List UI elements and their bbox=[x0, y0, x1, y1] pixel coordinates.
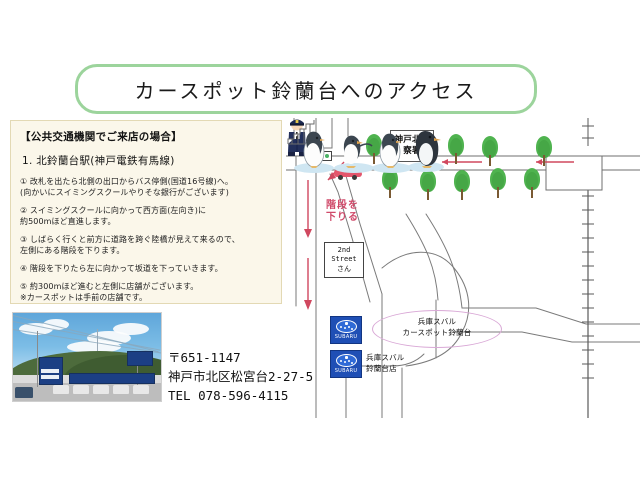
tree-icon bbox=[454, 170, 470, 200]
step-line: ① 改札を出たら北側の出口からバス停側(国道16号線)へ。 bbox=[20, 176, 272, 187]
subaru-wordmark: SUBARU bbox=[335, 334, 358, 340]
step-line: ② スイミングスクールに向かって西方面(左向き)に bbox=[20, 205, 272, 216]
dealership-photo bbox=[12, 312, 162, 402]
access-map: 神戸北警察署 bbox=[286, 118, 640, 418]
subaru-star-emblem bbox=[336, 354, 357, 367]
photo-sign-band bbox=[41, 369, 59, 373]
step-line: ※カースポットは手前の店舗です。 bbox=[20, 292, 272, 303]
step-line: ⑤ 約300mほど進むと左側に店舗がございます。 bbox=[20, 281, 272, 292]
street-box-line1: 2nd bbox=[338, 246, 351, 255]
photo-car bbox=[15, 387, 33, 398]
step-line: (向かいにスイミングスクールやりそな銀行がございます) bbox=[20, 187, 272, 198]
direction-step: ⑤ 約300mほど進むと左側に店舗がございます。 ※カースポットは手前の店舗です… bbox=[20, 281, 272, 303]
suzurandai-line1: 兵庫スバル bbox=[366, 352, 405, 363]
page-root: カースポット鈴蘭台へのアクセス 【公共交通機関でご来店の場合】 1. 北鈴蘭台駅… bbox=[0, 0, 640, 480]
street-box-line3: さん bbox=[337, 265, 351, 274]
stairs-label-line1: 階段を bbox=[326, 200, 359, 211]
landmark-2nd-street: 2nd Street さん bbox=[324, 242, 364, 278]
photo-car bbox=[93, 385, 109, 394]
photo-sign-band bbox=[41, 375, 59, 379]
photo-cloud bbox=[113, 323, 149, 335]
page-title-box: カースポット鈴蘭台へのアクセス bbox=[75, 64, 537, 114]
photo-sign-board bbox=[127, 351, 153, 366]
subaru-logo-suzurandai: SUBARU bbox=[330, 350, 362, 378]
suzurandai-line2: 鈴蘭台店 bbox=[366, 363, 405, 374]
stairs-label-line2: 下りる bbox=[326, 212, 359, 223]
penguin-illustration bbox=[286, 118, 456, 176]
directions-panel: 【公共交通機関でご来店の場合】 1. 北鈴蘭台駅(神戸電鉄有馬線) ① 改札を出… bbox=[10, 120, 282, 304]
tree-icon bbox=[536, 136, 552, 166]
subaru-wordmark: SUBARU bbox=[335, 368, 358, 374]
photo-showroom-banner bbox=[69, 373, 155, 384]
stairs-direction-label: 階段を 下りる bbox=[326, 200, 359, 223]
penguin-icon bbox=[380, 134, 402, 168]
photo-car bbox=[53, 385, 69, 394]
step-line: 左側にある階段を下ります。 bbox=[20, 245, 272, 256]
directions-subheading: 1. 北鈴蘭台駅(神戸電鉄有馬線) bbox=[22, 153, 272, 168]
photo-pole bbox=[37, 331, 38, 387]
tree-icon bbox=[482, 136, 498, 166]
tree-icon bbox=[524, 168, 540, 198]
photo-car bbox=[73, 385, 89, 394]
street-box-line2: Street bbox=[331, 255, 356, 264]
carspot-callout-text: 兵庫スバル カースポット鈴蘭台 bbox=[378, 316, 496, 339]
photo-car bbox=[113, 385, 129, 394]
photo-car bbox=[133, 385, 149, 394]
direction-step: ② スイミングスクールに向かって西方面(左向き)に 約500mほど直進します。 bbox=[20, 205, 272, 227]
carspot-line2: カースポット鈴蘭台 bbox=[378, 327, 496, 338]
penguin-icon bbox=[304, 132, 325, 168]
direction-step: ④ 階段を下りたら左に向かって坂道を下っていきます。 bbox=[20, 263, 272, 274]
direction-step: ③ しばらく行くと前方に道路を跨ぐ陸橋が見えて来るので、 左側にある階段を下りま… bbox=[20, 234, 272, 256]
step-line: ④ 階段を下りたら左に向かって坂道を下っていきます。 bbox=[20, 263, 272, 274]
directions-heading: 【公共交通機関でご来店の場合】 bbox=[20, 129, 272, 144]
tree-icon bbox=[490, 168, 506, 198]
subaru-star-emblem bbox=[336, 320, 357, 333]
direction-step: ① 改札を出たら北側の出口からバス停側(国道16号線)へ。 (向かいにスイミング… bbox=[20, 176, 272, 198]
station-rect bbox=[546, 156, 602, 190]
carspot-line1: 兵庫スバル bbox=[378, 316, 496, 327]
subaru-logo-carspot: SUBARU bbox=[330, 316, 362, 344]
page-title: カースポット鈴蘭台へのアクセス bbox=[135, 75, 478, 104]
step-line: 約500mほど直進します。 bbox=[20, 216, 272, 227]
suzurandai-shop-text: 兵庫スバル 鈴蘭台店 bbox=[366, 352, 405, 375]
step-line: ③ しばらく行くと前方に道路を跨ぐ陸橋が見えて来るので、 bbox=[20, 234, 272, 245]
